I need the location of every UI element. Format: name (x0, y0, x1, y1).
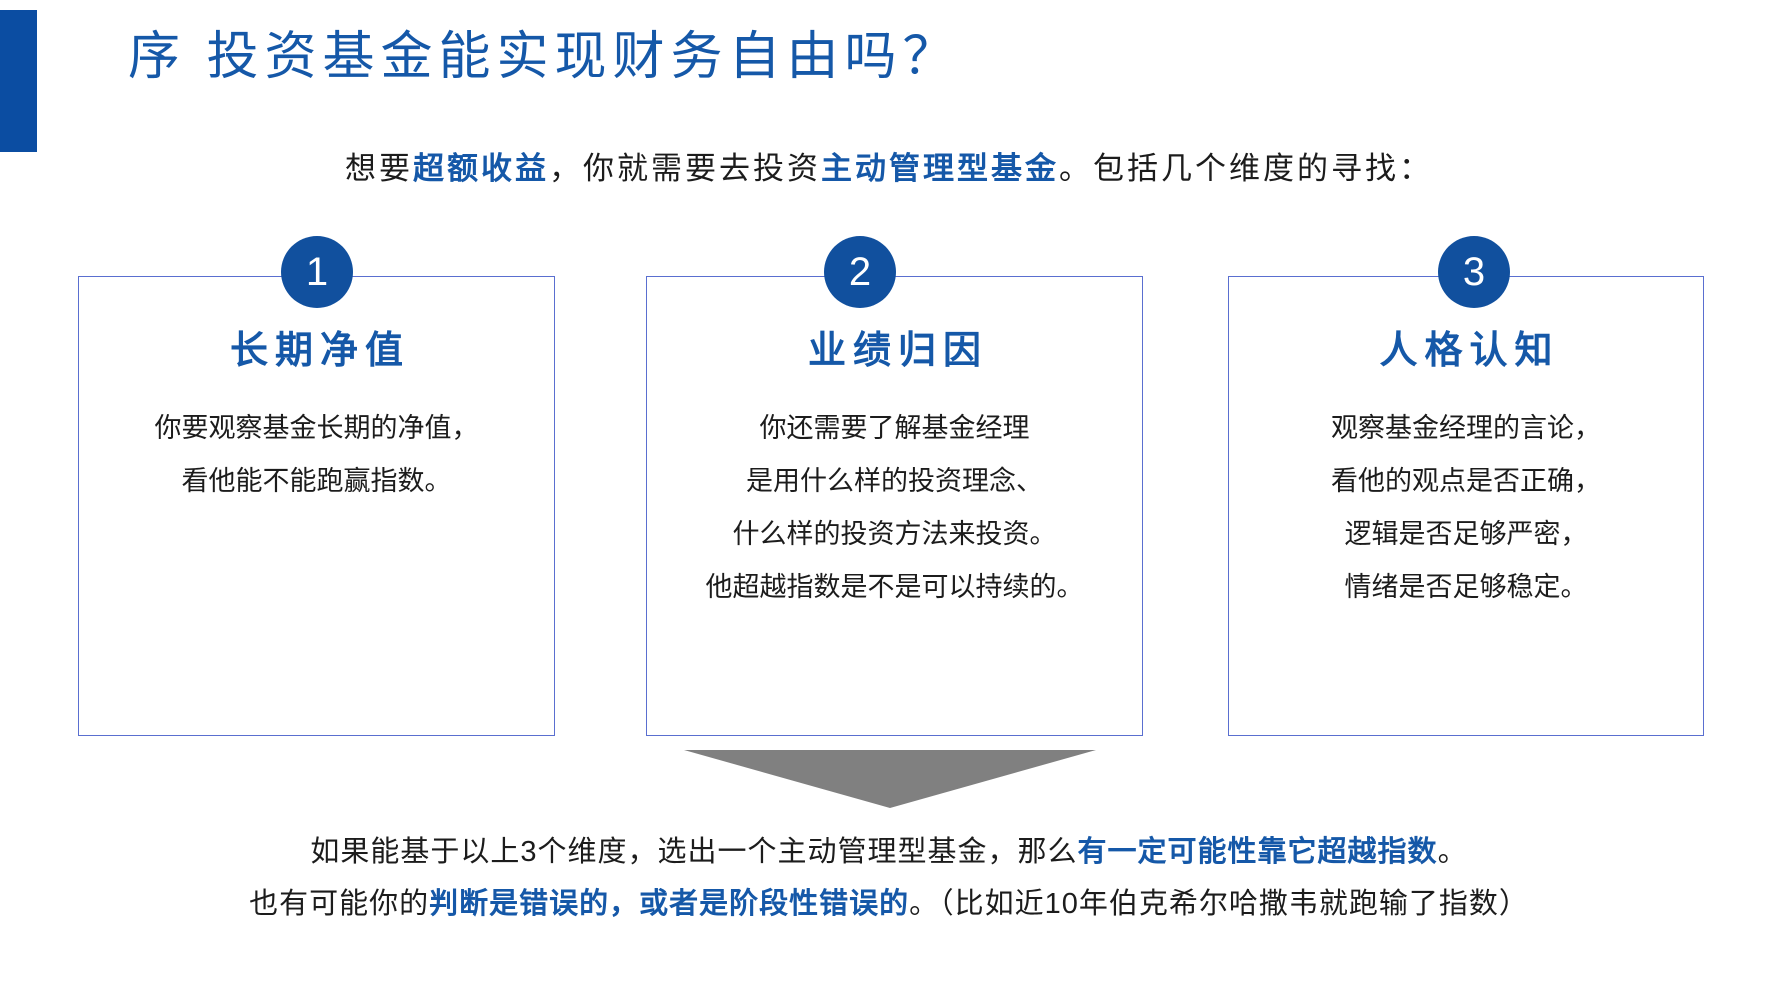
footer-line-2-part1: 也有可能你的 (249, 888, 429, 920)
card-long-term-nav: 1 长期净值 你要观察基金长期的净值， 看他能不能跑赢指数。 (78, 276, 555, 736)
footer-conclusion: 如果能基于以上3个维度，选出一个主动管理型基金，那么有一定可能性靠它超越指数。 … (0, 826, 1778, 930)
card-badge-2: 2 (824, 236, 896, 308)
footer-line-1-highlight: 有一定可能性靠它超越指数 (1078, 836, 1438, 868)
intro-text-part3: 。包括几个维度的寻找： (1059, 151, 1433, 186)
intro-highlight-active-fund: 主动管理型基金 (821, 151, 1059, 186)
card-performance-attribution: 2 业绩归因 你还需要了解基金经理 是用什么样的投资理念、 什么样的投资方法来投… (646, 276, 1143, 736)
card-2-line-3: 什么样的投资方法来投资。 (657, 508, 1132, 561)
accent-bar (0, 10, 37, 152)
card-3-line-2: 看他的观点是否正确， (1239, 455, 1693, 508)
card-title-3: 人格认知 (1229, 319, 1703, 374)
card-3-line-3: 逻辑是否足够严密， (1239, 508, 1693, 561)
footer-line-2-part2: 。（比如近10年伯克希尔哈撒韦就跑输了指数） (909, 888, 1529, 920)
footer-line-1-part2: 。 (1438, 836, 1468, 868)
footer-line-2-highlight: 判断是错误的，或者是阶段性错误的 (429, 888, 909, 920)
card-body-1: 你要观察基金长期的净值， 看他能不能跑赢指数。 (89, 402, 544, 508)
card-body-3: 观察基金经理的言论， 看他的观点是否正确， 逻辑是否足够严密， 情绪是否足够稳定… (1239, 402, 1693, 614)
page-title: 序 投资基金能实现财务自由吗？ (128, 26, 960, 88)
intro-text-part1: 想要 (345, 151, 413, 186)
intro-line: 想要超额收益，你就需要去投资主动管理型基金。包括几个维度的寻找： (0, 143, 1778, 188)
intro-highlight-excess-return: 超额收益 (413, 151, 549, 186)
card-3-line-4: 情绪是否足够稳定。 (1239, 561, 1693, 614)
card-2-line-1: 你还需要了解基金经理 (657, 402, 1132, 455)
card-body-2: 你还需要了解基金经理 是用什么样的投资理念、 什么样的投资方法来投资。 他超越指… (657, 402, 1132, 614)
cards-container: 1 长期净值 你要观察基金长期的净值， 看他能不能跑赢指数。 2 业绩归因 你还… (78, 276, 1704, 736)
card-badge-1: 1 (281, 236, 353, 308)
card-3-line-1: 观察基金经理的言论， (1239, 402, 1693, 455)
footer-line-1: 如果能基于以上3个维度，选出一个主动管理型基金，那么有一定可能性靠它超越指数。 (0, 826, 1778, 878)
card-personality-cognition: 3 人格认知 观察基金经理的言论， 看他的观点是否正确， 逻辑是否足够严密， 情… (1228, 276, 1704, 736)
card-2-line-4: 他超越指数是不是可以持续的。 (657, 561, 1132, 614)
card-title-1: 长期净值 (79, 319, 554, 374)
card-badge-3: 3 (1438, 236, 1510, 308)
card-2-line-2: 是用什么样的投资理念、 (657, 455, 1132, 508)
card-1-line-1: 你要观察基金长期的净值， (89, 402, 544, 455)
intro-text-part2: ，你就需要去投资 (549, 151, 821, 186)
card-title-2: 业绩归因 (647, 319, 1142, 374)
triangle-down-icon (684, 750, 1096, 808)
footer-line-2: 也有可能你的判断是错误的，或者是阶段性错误的。（比如近10年伯克希尔哈撒韦就跑输… (0, 878, 1778, 930)
card-1-line-2: 看他能不能跑赢指数。 (89, 455, 544, 508)
footer-line-1-part1: 如果能基于以上3个维度，选出一个主动管理型基金，那么 (310, 836, 1077, 868)
